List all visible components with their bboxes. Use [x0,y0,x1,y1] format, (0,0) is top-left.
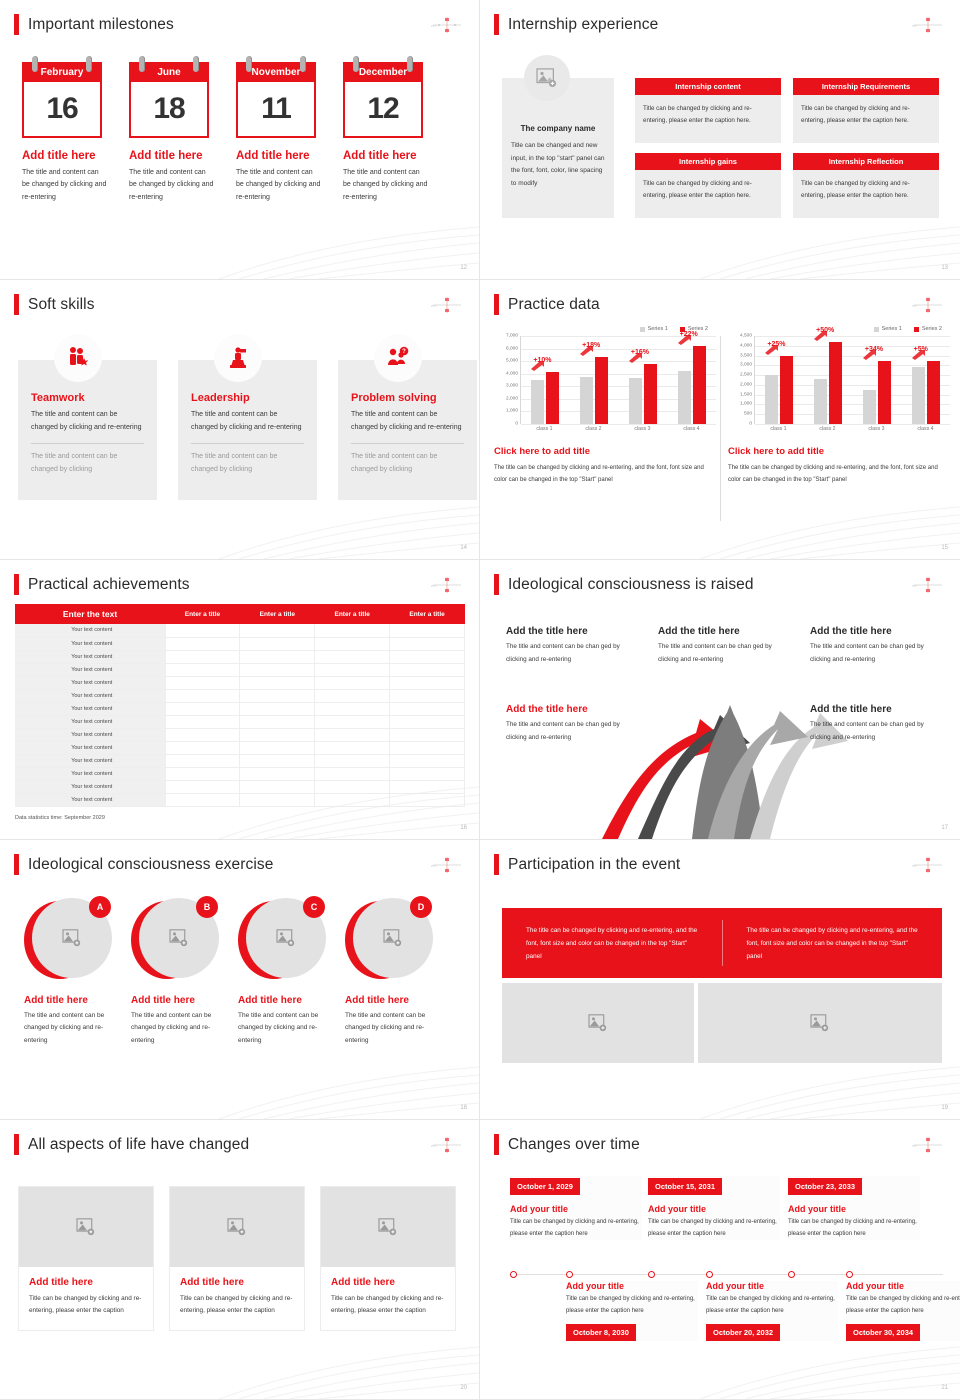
brand-logo-icon: PPT [910,854,946,876]
table-body: Your text contentYour text contentYour t… [15,624,465,806]
milestone-body: The title and content can be changed by … [236,167,321,204]
timeline-event-bottom[interactable]: Add your title Title can be changed by c… [846,1281,960,1341]
slide-ideological-consciousness-is-raised[interactable]: Ideological consciousness is raised PPT … [480,560,960,840]
table-row[interactable]: Your text content [15,676,465,689]
calendar-rings [129,56,209,68]
table-row[interactable]: Your text content [15,780,465,793]
problem-solving-icon: ? [374,334,422,382]
svg-text:PPT: PPT [912,864,918,868]
table-cell[interactable] [165,780,240,793]
timeline-dot[interactable] [648,1271,655,1278]
calendar-rings [22,56,102,68]
table-cell[interactable] [390,637,465,650]
table-column-header[interactable]: Enter the text [15,604,165,624]
image-placeholder-icon[interactable] [321,1187,455,1267]
table-cell[interactable] [165,728,240,741]
table-cell[interactable] [315,780,390,793]
legend-label: Series 1 [648,326,668,332]
bar [927,361,940,424]
table-cell[interactable]: Your text content [15,728,165,741]
timeline-event-top[interactable]: October 23, 2033 Add your title Title ca… [788,1176,920,1240]
life-card[interactable]: Add title here Title can be changed by c… [320,1186,456,1331]
circle-graphic: C [238,898,323,984]
item-body: Title can be changed by clicking and re-… [788,1217,920,1240]
timeline-dot[interactable] [510,1271,517,1278]
slide-ideological-consciousness-exercise[interactable]: Ideological consciousness exercise PPT A… [0,840,480,1120]
table-cell[interactable]: Your text content [15,637,165,650]
legend-entry: Series 2 [914,326,942,332]
table-cell[interactable] [165,650,240,663]
milestone-item[interactable]: February 16 Add title here The title and… [22,56,107,204]
milestone-row: February 16 Add title here The title and… [22,56,428,204]
table-cell[interactable] [390,728,465,741]
image-placeholder-icon[interactable] [19,1187,153,1267]
company-body: Title can be changed and new input, in t… [511,140,605,191]
svg-text:PPT: PPT [431,304,437,308]
internship-cell-body: Title can be changed by clicking and re-… [793,170,939,218]
y-axis-tick: 4,000 [506,371,518,376]
table-cell[interactable] [165,767,240,780]
internship-cell-header: Internship Reflection [793,153,939,170]
table-row[interactable]: Your text content [15,728,465,741]
table-cell[interactable] [165,741,240,754]
table-cell[interactable] [315,676,390,689]
slide-important-milestones[interactable]: Important milestones PPT February 16 Add… [0,0,480,280]
table-cell[interactable]: Your text content [15,689,165,702]
table-cell[interactable]: Your text content [15,702,165,715]
table-cell[interactable] [165,624,240,637]
growth-arrow-icon [580,346,594,356]
timeline: October 1, 2029 Add your title Title can… [498,1176,943,1366]
bar-group[interactable]: +18% [580,357,608,424]
participation-images [502,983,942,1063]
banner-text-right: The title can be changed by clicking and… [723,908,943,978]
table-row[interactable]: Your text content [15,663,465,676]
y-axis-tick: 2,000 [506,396,518,401]
x-axis-tick: class 1 [536,426,552,432]
timeline-dot[interactable] [706,1271,713,1278]
slide-header: Ideological consciousness exercise [14,854,274,875]
table-cell[interactable] [165,663,240,676]
table-row[interactable]: Your text content [15,741,465,754]
page-number: 14 [460,545,467,551]
brand-logo-icon: PPT [910,294,946,316]
circle-graphic: B [131,898,216,984]
slide-header: Participation in the event [494,854,680,875]
page-number: 20 [460,1385,467,1391]
growth-arrow-icon [912,350,926,360]
brand-logo-icon: PPT [429,854,465,876]
milestone-item[interactable]: November 11 Add title here The title and… [236,56,321,204]
page-number: 18 [460,1105,467,1111]
y-axis: 05001,0001,5002,0002,5003,0003,5004,0004… [728,336,754,424]
page-title: Changes over time [508,1136,640,1154]
bar-group[interactable]: +25% [765,356,793,424]
table-cell[interactable] [240,741,315,754]
table-cell[interactable] [240,702,315,715]
slide-practice-data[interactable]: Practice data PPT Series 1Series 2 01,00… [480,280,960,560]
timeline-event-top[interactable]: October 15, 2031 Add your title Title ca… [648,1176,780,1240]
item-body: The title and content can be changed by … [345,1010,430,1047]
calendar-body: 16 [22,82,102,138]
item-body: The title and content can be chan ged by… [810,719,940,744]
svg-text:PPT: PPT [431,864,437,868]
x-axis-tick: class 4 [683,426,699,432]
image-placeholder-icon[interactable] [170,1187,304,1267]
circle-row: A Add title here The title and content c… [24,898,430,1047]
table-cell[interactable] [390,741,465,754]
circle-graphic: D [345,898,430,984]
slide-header: Important milestones [14,14,174,35]
item-body: Title can be changed by clicking and re-… [648,1217,780,1240]
table-column-header[interactable]: Enter a title [240,604,315,624]
table-cell[interactable] [315,793,390,806]
internship-cell-header: Internship content [635,78,781,95]
table-row[interactable]: Your text content [15,793,465,806]
legend-swatch [640,327,645,332]
x-axis-tick: class 4 [917,426,933,432]
title-accent-bar [14,294,19,315]
calendar-day: 11 [261,92,291,126]
table-cell[interactable] [390,624,465,637]
achievements-table[interactable]: Enter the textEnter a titleEnter a title… [15,604,465,807]
slide-all-aspects-of-life-have-changed[interactable]: All aspects of life have changed PPT Add… [0,1120,480,1400]
table-cell[interactable] [165,689,240,702]
x-axis-tick: class 3 [634,426,650,432]
legend-entry: Series 1 [874,326,902,332]
chart-left[interactable]: Series 1Series 2 01,0002,0003,0004,0005,… [494,326,716,486]
circle-item[interactable]: C Add title here The title and content c… [238,898,323,1047]
slide-practical-achievements[interactable]: Practical achievements PPT Enter the tex… [0,560,480,840]
item-body: The title and content can be chan ged by… [506,641,636,666]
timeline-date: October 8, 2030 [566,1324,636,1341]
table-cell[interactable] [390,676,465,689]
circle-tag: B [196,896,218,918]
item-title: Add title here [24,995,109,1006]
slide-deck: Important milestones PPT February 16 Add… [0,0,960,1400]
calendar-icon: February 16 [22,56,102,138]
chart-caption-body: The title can be changed by clicking and… [728,462,950,486]
title-accent-bar [14,1134,19,1155]
table-cell[interactable] [315,650,390,663]
growth-arrow-icon [531,361,545,371]
table-cell[interactable]: Your text content [15,715,165,728]
ideological-item[interactable]: Add the title here The title and content… [506,626,636,666]
timeline-date: October 1, 2029 [510,1178,580,1195]
plot-area: +25%+50%+34%+5% [754,336,950,424]
item-title: Add the title here [810,626,940,637]
item-body: The title and content can be chan ged by… [658,641,788,666]
skill-body: The title and content can be changed by … [191,409,304,435]
ideological-item[interactable]: Add the title here The title and content… [810,626,940,666]
bar-group[interactable]: +10% [531,372,559,424]
growth-arrow-icon [814,331,828,341]
bar-group[interactable]: +50% [814,342,842,424]
table-column-header[interactable]: Enter a title [390,604,465,624]
table-cell[interactable] [240,715,315,728]
title-accent-bar [494,1134,499,1155]
table-cell[interactable]: Your text content [15,741,165,754]
brand-logo-icon: PPT [910,1134,946,1156]
bar-group[interactable]: +5% [912,361,940,424]
table-cell[interactable] [390,689,465,702]
table-row[interactable]: Your text content [15,754,465,767]
image-placeholder-icon[interactable] [698,983,942,1063]
table-cell[interactable] [165,702,240,715]
table-cell[interactable] [315,637,390,650]
item-body: Title can be changed by clicking and re-… [29,1293,143,1318]
title-accent-bar [14,14,19,35]
milestone-item[interactable]: June 18 Add title here The title and con… [129,56,214,204]
timeline-dot[interactable] [788,1271,795,1278]
table-cell[interactable] [390,715,465,728]
slide-changes-over-time[interactable]: Changes over time PPT October 1, 2029 Ad… [480,1120,960,1400]
table-cell[interactable] [240,676,315,689]
table-cell[interactable] [390,767,465,780]
circle-item[interactable]: B Add title here The title and content c… [131,898,216,1047]
table-cell[interactable] [315,624,390,637]
table-cell[interactable] [315,715,390,728]
table-cell[interactable] [240,637,315,650]
life-card[interactable]: Add title here Title can be changed by c… [18,1186,154,1331]
table-cell[interactable]: Your text content [15,793,165,806]
brand-logo-icon: PPT [429,574,465,596]
table-row[interactable]: Your text content [15,702,465,715]
legend-entry: Series 1 [640,326,668,332]
table-cell[interactable] [240,728,315,741]
bar-group[interactable]: +34% [863,361,891,424]
x-axis-tick: class 1 [770,426,786,432]
table-cell[interactable]: Your text content [15,780,165,793]
brand-logo-icon: PPT [429,1134,465,1156]
table-cell[interactable] [240,650,315,663]
item-title: Add your title [566,1281,698,1291]
bar [912,367,925,424]
page-title: Ideological consciousness exercise [28,856,274,874]
skill-title: Leadership [191,392,304,404]
ideological-item[interactable]: Add the title here The title and content… [658,626,788,666]
divider [351,443,464,444]
table-cell[interactable] [165,754,240,767]
skill-title: Problem solving [351,392,464,404]
internship-cell[interactable]: Internship Requirements Title can be cha… [793,78,939,143]
y-axis-tick: 500 [744,412,752,417]
table-cell[interactable] [240,754,315,767]
chart-plot: 05001,0001,5002,0002,5003,0003,5004,0004… [728,336,950,424]
slide-header: Practical achievements [14,574,190,595]
table-cell[interactable]: Your text content [15,663,165,676]
table-cell[interactable] [390,650,465,663]
x-axis-tick: class 2 [819,426,835,432]
divider [720,336,721,521]
table-cell[interactable] [390,780,465,793]
item-title: Add title here [131,995,216,1006]
bar [693,346,706,424]
timeline-dot[interactable] [566,1271,573,1278]
ideological-item-accent[interactable]: Add the title here The title and content… [506,704,636,744]
slide-header: Soft skills [14,294,95,315]
chart-caption-title: Click here to add title [728,446,950,457]
internship-cell-body: Title can be changed by clicking and re-… [793,95,939,143]
table-cell[interactable] [390,754,465,767]
item-title: Add title here [238,995,323,1006]
page-title: Participation in the event [508,856,680,874]
table-row[interactable]: Your text content [15,637,465,650]
bar [595,357,608,424]
table-cell[interactable] [315,702,390,715]
timeline-dot[interactable] [846,1271,853,1278]
skill-card[interactable]: Leadership The title and content can be … [178,360,317,500]
table-cell[interactable]: Your text content [15,624,165,637]
timeline-event-top[interactable]: October 1, 2029 Add your title Title can… [510,1176,642,1240]
bar [580,377,593,424]
internship-cell[interactable]: Internship Reflection Title can be chang… [793,153,939,218]
table-row[interactable]: Your text content [15,767,465,780]
skill-body: The title and content can be changed by … [351,409,464,435]
x-axis-tick: class 3 [868,426,884,432]
table-cell[interactable] [165,715,240,728]
table-column-header[interactable]: Enter a title [165,604,240,624]
life-card[interactable]: Add title here Title can be changed by c… [169,1186,305,1331]
divider [31,443,144,444]
table-cell[interactable]: Your text content [15,650,165,663]
company-panel[interactable]: The company name Title can be changed an… [502,78,614,218]
item-title: Add your title [648,1204,780,1214]
skill-card[interactable]: Teamwork The title and content can be ch… [18,360,157,500]
calendar-rings [343,56,423,68]
table-row[interactable]: Your text content [15,650,465,663]
slide-participation-in-the-event[interactable]: Participation in the event PPT The title… [480,840,960,1120]
gridline [755,424,950,425]
table-cell[interactable] [315,767,390,780]
timeline-event-bottom[interactable]: Add your title Title can be changed by c… [706,1281,838,1341]
table-cell[interactable] [240,663,315,676]
table-cell[interactable] [240,780,315,793]
circle-item[interactable]: A Add title here The title and content c… [24,898,109,1047]
table-cell[interactable]: Your text content [15,676,165,689]
table-cell[interactable] [315,728,390,741]
slide-header: Changes over time [494,1134,640,1155]
table-cell[interactable]: Your text content [15,767,165,780]
table-cell[interactable] [165,676,240,689]
table-cell[interactable] [315,754,390,767]
table-cell[interactable] [165,637,240,650]
table-cell[interactable] [315,689,390,702]
item-body: Title can be changed by clicking and re-… [510,1217,642,1240]
table-row[interactable]: Your text content [15,689,465,702]
timeline-date: October 20, 2032 [706,1324,780,1341]
slide-soft-skills[interactable]: Soft skills PPT Teamwork The title and c… [0,280,480,560]
bar-group[interactable]: +16% [629,364,657,424]
chart-legend: Series 1Series 2 [728,326,950,332]
table-column-header[interactable]: Enter a title [315,604,390,624]
table-cell[interactable] [390,663,465,676]
title-accent-bar [494,14,499,35]
internship-cell[interactable]: Internship content Title can be changed … [635,78,781,143]
calendar-body: 18 [129,82,209,138]
y-axis-tick: 7,000 [506,334,518,339]
table-cell[interactable] [240,689,315,702]
slide-header: Practice data [494,294,600,315]
skill-card[interactable]: ? Problem solving The title and content … [338,360,477,500]
legend-label: Series 2 [922,326,942,332]
bar [814,379,827,424]
page-title: Soft skills [28,296,95,314]
svg-text:PPT: PPT [431,1144,437,1148]
leadership-icon [214,334,262,382]
timeline-date: October 30, 2034 [846,1324,920,1341]
page-number: 16 [460,825,467,831]
skill-title: Teamwork [31,392,144,404]
life-card-body: Add title here Title can be changed by c… [19,1267,153,1330]
internship-cell[interactable]: Internship gains Title can be changed by… [635,153,781,218]
company-name: The company name [511,124,605,133]
table-cell[interactable] [240,793,315,806]
table-cell[interactable] [315,663,390,676]
participation-banner[interactable]: The title can be changed by clicking and… [502,908,942,978]
table-cell[interactable] [240,767,315,780]
y-axis-tick: 2,000 [740,382,752,387]
table-cell[interactable] [390,793,465,806]
table-cell[interactable]: Your text content [15,754,165,767]
ideological-item[interactable]: Add the title here The title and content… [810,704,940,744]
item-title: Add the title here [506,704,636,715]
internship-grid: Internship content Title can be changed … [635,78,939,218]
internship-cell-header: Internship Requirements [793,78,939,95]
bar-group-container: +25%+50%+34%+5% [755,336,950,424]
chart-right[interactable]: Series 1Series 2 05001,0001,5002,0002,50… [728,326,950,486]
item-title: Add the title here [658,626,788,637]
bar-group[interactable]: +22% [678,346,706,424]
page-title: Ideological consciousness is raised [508,576,754,594]
calendar-icon: November 11 [236,56,316,138]
item-body: The title and content can be chan ged by… [810,641,940,666]
y-axis-tick: 1,000 [740,402,752,407]
slide-internship-experience[interactable]: Internship experience PPT The company na… [480,0,960,280]
calendar-body: 11 [236,82,316,138]
table-note: Data statistics time: September 2029 [15,815,105,821]
page-title: All aspects of life have changed [28,1136,249,1154]
milestone-title: Add title here [22,150,107,162]
timeline-event-bottom[interactable]: Add your title Title can be changed by c… [566,1281,698,1341]
table-cell[interactable] [165,793,240,806]
y-axis-tick: 3,500 [740,353,752,358]
table-cell[interactable] [390,702,465,715]
image-placeholder-icon[interactable] [502,983,694,1063]
legend-label: Series 1 [882,326,902,332]
bar [863,390,876,424]
timeline-axis [510,1274,943,1275]
slide-header: Internship experience [494,14,658,35]
item-title: Add your title [788,1204,920,1214]
banner-text-left: The title can be changed by clicking and… [502,908,722,978]
image-placeholder-icon[interactable] [524,55,570,101]
svg-text:PPT: PPT [912,24,918,28]
table-row[interactable]: Your text content [15,715,465,728]
table-cell[interactable] [315,741,390,754]
calendar-day: 16 [46,92,77,126]
brand-logo-icon: PPT [910,14,946,36]
milestone-body: The title and content can be changed by … [22,167,107,204]
table-row[interactable]: Your text content [15,624,465,637]
table-cell[interactable] [240,624,315,637]
svg-text:PPT: PPT [912,1144,918,1148]
brand-logo-icon: PPT [429,14,465,36]
circle-item[interactable]: D Add title here The title and content c… [345,898,430,1047]
milestone-item[interactable]: December 12 Add title here The title and… [343,56,428,204]
bar [644,364,657,424]
chart-caption-title: Click here to add title [494,446,716,457]
